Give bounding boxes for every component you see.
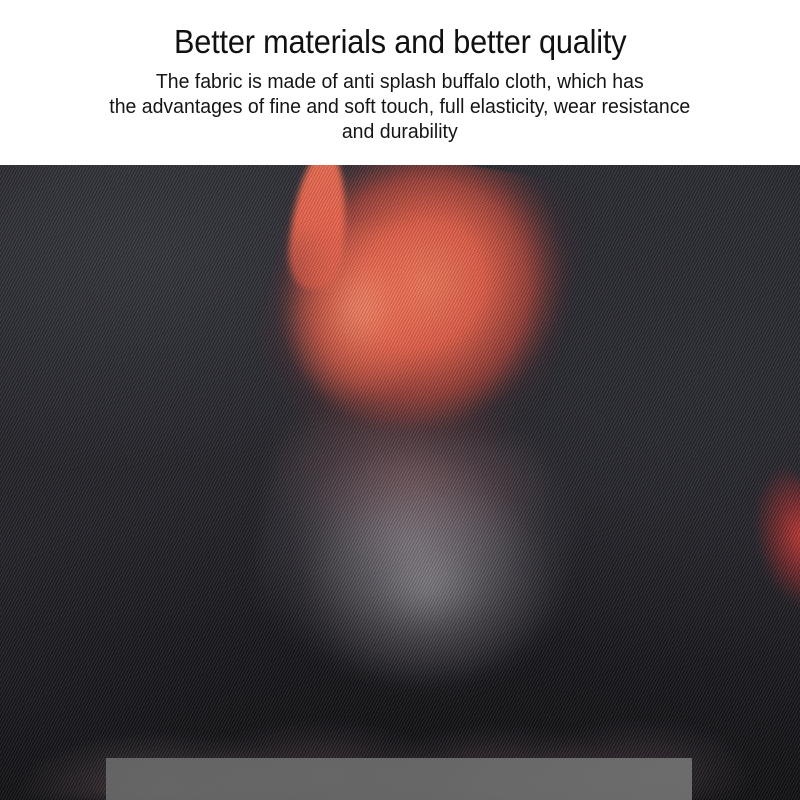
caption-title: Comfortable Oxford fabric — [273, 795, 526, 800]
subtitle-line-2: the advantages of fine and soft touch, f… — [110, 95, 691, 118]
page-title: Better materials and better quality — [174, 0, 626, 62]
caption-panel: Comfortable Oxford fabric High density, … — [106, 758, 692, 800]
fabric-photo: Comfortable Oxford fabric High density, … — [0, 165, 800, 800]
product-feature-banner: Better materials and better quality The … — [0, 0, 800, 800]
page-subtitle: The fabric is made of anti splash buffal… — [110, 62, 691, 144]
subtitle-line-3: and durability — [342, 120, 458, 143]
subtitle-line-1: The fabric is made of anti splash buffal… — [156, 70, 644, 93]
header-text-block: Better materials and better quality The … — [0, 0, 800, 165]
